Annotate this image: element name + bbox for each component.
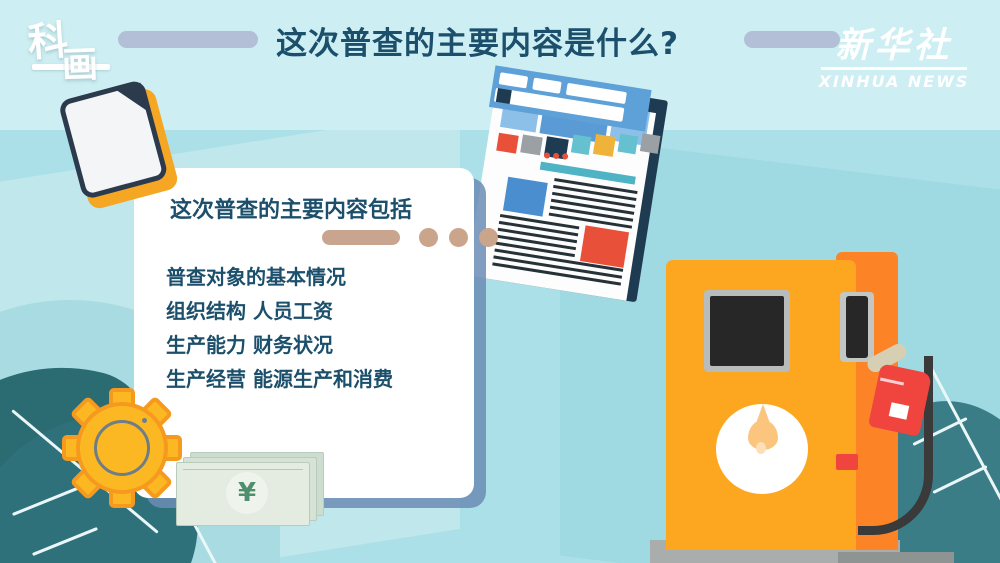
list-item: 生产经营 能源生产和消费	[166, 362, 393, 396]
xinhua-brand-cn: 新华社	[818, 26, 970, 66]
content-card: 这次普查的主要内容包括 普查对象的基本情况 组织结构 人员工资 生产能力 财务状…	[134, 168, 474, 498]
document-illustration	[467, 66, 668, 300]
document-block	[503, 177, 548, 217]
document-block	[571, 134, 592, 155]
gear-icon	[62, 388, 182, 508]
kehua-logo: 科 画	[26, 18, 112, 98]
gas-pump-base-secondary	[838, 552, 954, 563]
decorative-bar	[322, 230, 400, 245]
document-block	[640, 133, 661, 154]
document-window-tab	[499, 72, 529, 88]
content-card-heading: 这次普查的主要内容包括	[170, 192, 412, 224]
content-list: 普查对象的基本情况 组织结构 人员工资 生产能力 财务状况 生产经营 能源生产和…	[166, 260, 393, 396]
banknotes-icon: ¥	[176, 452, 322, 524]
gas-pump-nozzle-slot	[846, 296, 868, 358]
document-dot	[562, 153, 569, 160]
document-block	[593, 134, 616, 157]
document-window-tab	[532, 78, 562, 94]
document-block	[618, 134, 639, 155]
kehua-logo-char-2: 画	[61, 47, 98, 84]
gas-pump-button	[836, 454, 858, 470]
decorative-dot	[479, 228, 498, 247]
document-window-icon	[496, 88, 512, 104]
fuel-droplet-highlight	[756, 442, 766, 454]
list-item: 生产能力 财务状况	[166, 328, 393, 362]
decorative-dot	[449, 228, 468, 247]
gas-pump-illustration	[688, 252, 936, 563]
list-item: 组织结构 人员工资	[166, 294, 393, 328]
xinhua-brand-rule	[821, 67, 967, 70]
decorative-pill-left	[118, 31, 258, 48]
infographic-canvas: 科 画 这次普查的主要内容是什么? 新华社 XINHUA NEWS	[0, 0, 1000, 563]
decorative-dot	[419, 228, 438, 247]
document-block	[520, 135, 543, 156]
document-card-icon-corner	[115, 83, 148, 119]
document-block	[496, 133, 519, 154]
yuan-symbol: ¥	[226, 476, 268, 510]
gear-inner-ring	[94, 420, 150, 476]
gear-dot	[142, 418, 147, 423]
list-item: 普查对象的基本情况	[166, 260, 393, 294]
gas-pump-screen	[710, 296, 784, 366]
xinhua-brand-logo: 新华社 XINHUA NEWS	[818, 26, 970, 88]
xinhua-brand-en: XINHUA NEWS	[818, 72, 970, 91]
document-dot	[544, 152, 551, 159]
document-block	[580, 225, 629, 267]
page-title: 这次普查的主要内容是什么?	[276, 18, 736, 63]
document-block	[540, 162, 636, 185]
